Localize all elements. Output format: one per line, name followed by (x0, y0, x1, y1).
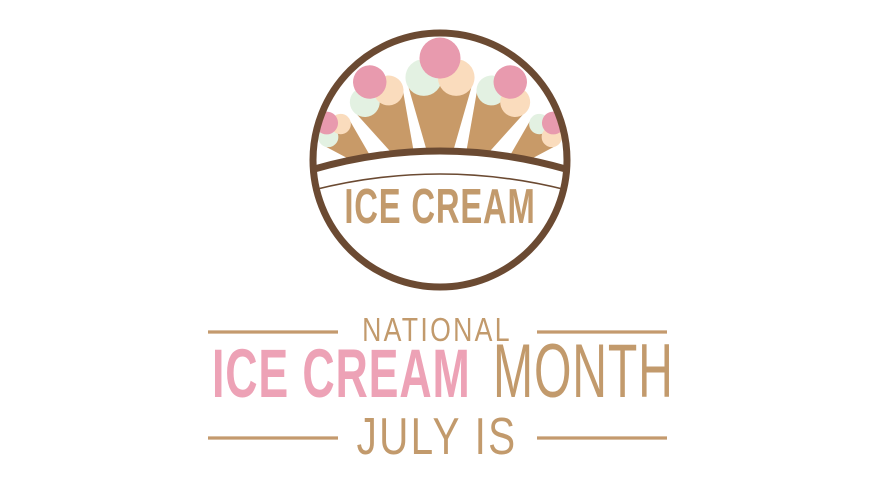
label-july-is: JULY IS (357, 407, 518, 465)
title-lockup-graphic: NATIONAL ICE CREAM MONTH JULY IS (0, 305, 875, 477)
poster-canvas: ICE CREAM NATIONAL ICE CREAM MONTH JULY … (0, 0, 875, 500)
title-lockup: NATIONAL ICE CREAM MONTH JULY IS (0, 305, 875, 477)
badge-graphic: ICE CREAM (307, 27, 573, 293)
ice-cream-badge: ICE CREAM (307, 27, 573, 293)
label-month: MONTH (493, 328, 674, 414)
label-ice-cream-highlight: ICE CREAM (212, 337, 471, 413)
badge-label: ICE CREAM (344, 178, 535, 233)
